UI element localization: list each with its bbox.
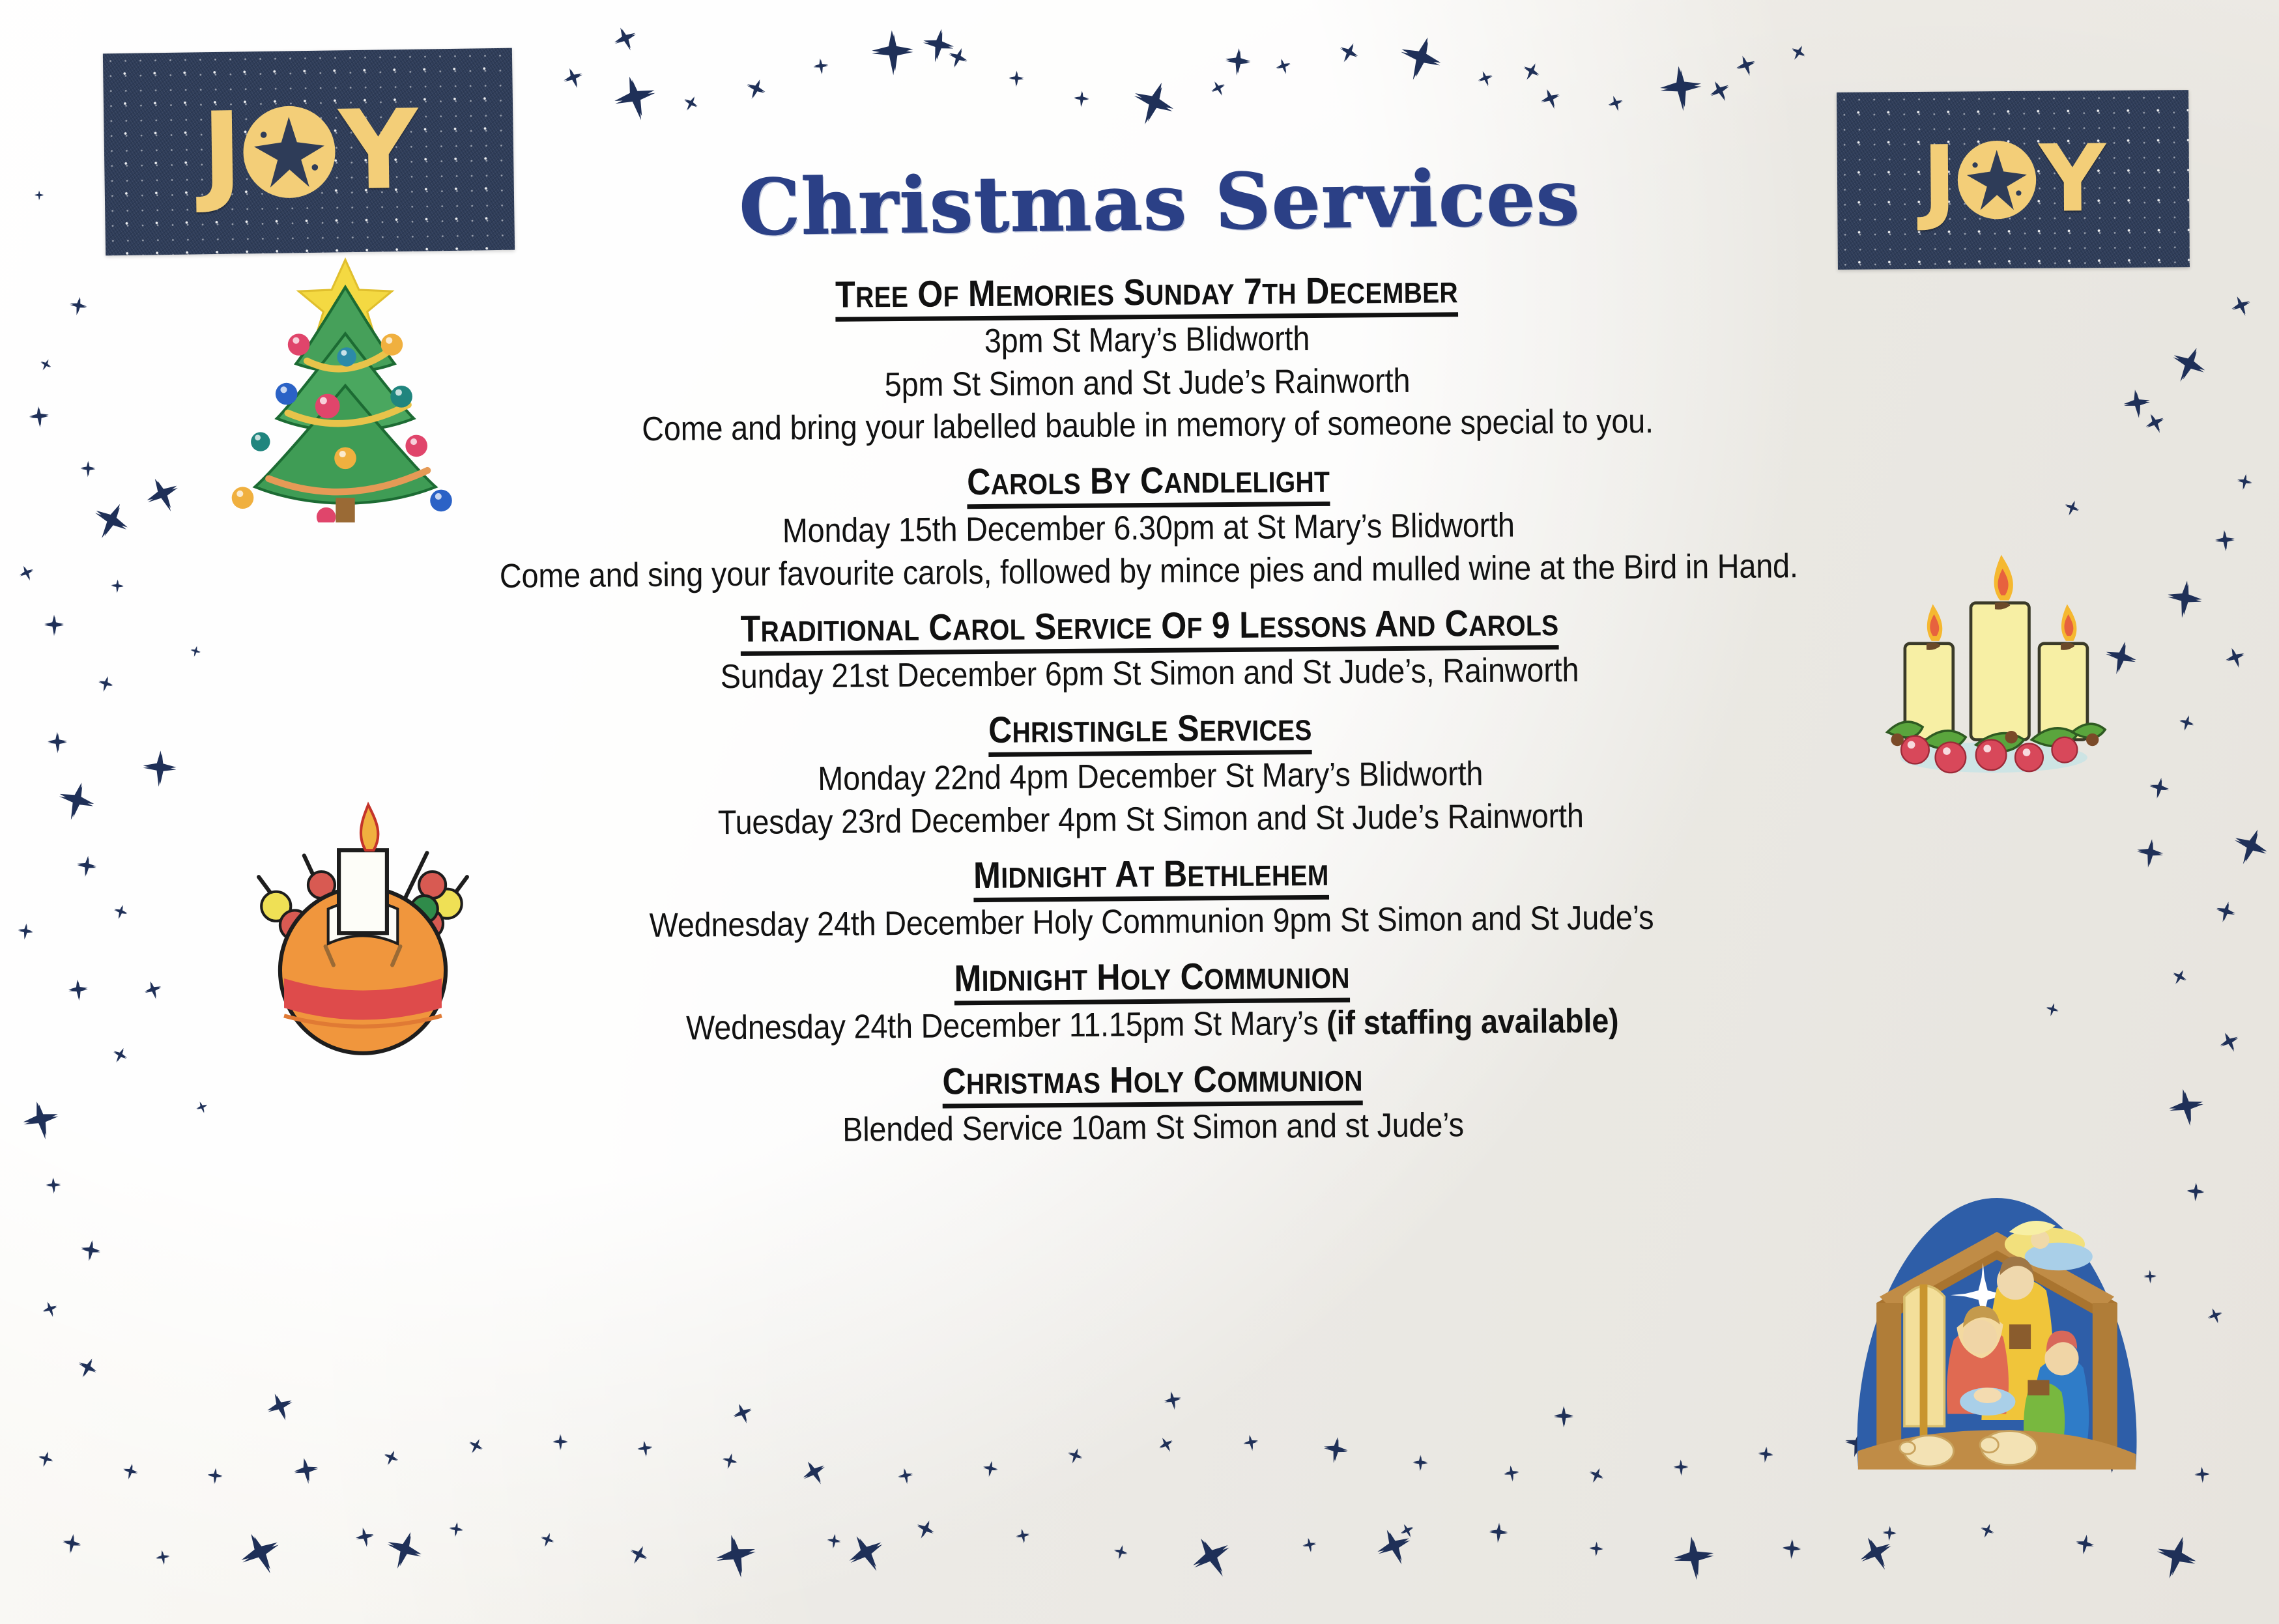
section-heading: CAROLS BY CANDLELIGHT xyxy=(967,461,1330,509)
decorative-star-icon xyxy=(1536,85,1565,113)
section-heading: TRADITIONAL CAROL SERVICE OF 9 LESSONS A… xyxy=(740,604,1558,656)
decorative-star-icon xyxy=(378,1524,429,1576)
page-title: Christmas Services xyxy=(736,159,1583,246)
decorative-star-icon xyxy=(1390,29,1450,89)
decorative-star-icon xyxy=(230,1523,291,1584)
decorative-star-icon xyxy=(1672,1459,1690,1476)
decorative-star-icon xyxy=(1655,63,1706,114)
section-tree-of-memories: TREE OF MEMORIES SUNDAY 7TH DECEMBER 3pm… xyxy=(212,266,2083,455)
decorative-star-icon xyxy=(607,70,664,127)
decorative-star-icon xyxy=(111,902,130,922)
section-heading: CHRISTINGLE SERVICES xyxy=(988,709,1312,757)
decorative-star-icon xyxy=(1123,73,1184,134)
decorative-star-icon xyxy=(1241,1432,1261,1452)
joy-letter-y: Y xyxy=(2039,141,2104,218)
decorative-star-icon xyxy=(35,1449,56,1470)
decorative-star-icon xyxy=(709,1529,764,1584)
decorative-star-icon xyxy=(1518,59,1545,85)
decorative-star-icon xyxy=(51,776,102,827)
decorative-star-icon xyxy=(1181,1526,1243,1589)
decorative-star-icon xyxy=(464,1435,487,1458)
decorative-star-icon xyxy=(795,1454,833,1491)
section-line-plain: Wednesday 24th December 11.15pm St Mary’… xyxy=(686,1004,1327,1047)
section-heading: MIDNIGHT AT BETHLEHEM xyxy=(973,854,1329,903)
decorative-star-icon xyxy=(1553,1406,1575,1428)
decorative-star-icon xyxy=(34,190,44,201)
decorative-star-icon xyxy=(1161,1389,1184,1412)
decorative-star-icon xyxy=(2204,1305,2226,1327)
decorative-star-icon xyxy=(838,1525,895,1582)
decorative-star-icon xyxy=(1605,93,1627,114)
decorative-star-icon xyxy=(108,1044,131,1067)
decorative-star-icon xyxy=(36,356,54,373)
decorative-star-icon xyxy=(43,614,65,636)
decorative-star-icon xyxy=(2162,339,2214,391)
nativity-scene-icon xyxy=(1841,1186,2153,1479)
decorative-star-icon xyxy=(1487,1522,1510,1544)
decorative-star-icon xyxy=(1502,1464,1521,1483)
section-heading: TREE OF MEMORIES SUNDAY 7TH DECEMBER xyxy=(835,271,1458,322)
decorative-star-icon xyxy=(679,92,702,115)
decorative-star-icon xyxy=(1222,46,1254,78)
decorative-star-icon xyxy=(1588,1541,1604,1557)
decorative-star-icon xyxy=(141,978,165,1003)
decorative-star-icon xyxy=(1781,1539,1803,1561)
decorative-star-icon xyxy=(2185,1182,2206,1203)
decorative-star-icon xyxy=(193,1099,210,1116)
decorative-star-icon xyxy=(2227,292,2256,321)
decorative-star-icon xyxy=(78,1238,104,1264)
decorative-star-icon xyxy=(67,295,90,318)
decorative-star-icon xyxy=(95,674,116,694)
decorative-star-icon xyxy=(1669,1533,1719,1584)
decorative-star-icon xyxy=(2072,1533,2097,1558)
decorative-star-icon xyxy=(917,25,958,66)
decorative-star-icon xyxy=(624,1541,652,1569)
decorative-star-icon xyxy=(1334,38,1364,68)
joy-letter-j: J xyxy=(1922,142,1955,218)
section-heading: CHRISTMAS HOLY COMMUNION xyxy=(943,1059,1364,1108)
decorative-star-icon xyxy=(16,562,38,584)
decorative-star-icon xyxy=(1207,78,1229,100)
decorative-star-icon xyxy=(79,461,96,477)
decorative-star-icon xyxy=(1732,51,1760,80)
decorative-star-icon xyxy=(1977,1520,1997,1541)
decorative-star-icon xyxy=(188,644,203,659)
decorative-star-icon xyxy=(1273,55,1295,77)
section-midnight-at-bethlehem: MIDNIGHT AT BETHLEHEM Wednesday 24th Dec… xyxy=(216,848,2087,951)
decorative-star-icon xyxy=(44,1176,62,1194)
decorative-star-icon xyxy=(74,854,99,879)
decorative-star-icon xyxy=(812,57,831,76)
decorative-star-icon xyxy=(537,1530,558,1550)
decorative-star-icon xyxy=(1320,1434,1351,1466)
decorative-star-icon xyxy=(552,1434,569,1451)
decorative-star-icon xyxy=(868,29,917,77)
decorative-star-icon xyxy=(1064,1446,1085,1467)
decorative-star-icon xyxy=(2234,472,2254,492)
decorative-star-icon xyxy=(1300,1536,1319,1554)
decorative-star-icon xyxy=(140,749,180,789)
decorative-star-icon xyxy=(59,1531,83,1556)
decorative-star-icon xyxy=(206,1467,224,1485)
joy-word-right: J Y xyxy=(1837,137,2190,223)
decorative-star-icon xyxy=(2213,529,2236,552)
decorative-star-icon xyxy=(728,1399,757,1428)
poster-title-wrap: Christmas Services xyxy=(736,159,1583,246)
joy-letter-o-star-icon xyxy=(240,102,339,201)
decorative-star-icon xyxy=(46,732,69,754)
decorative-star-icon xyxy=(1111,1543,1130,1561)
section-midnight-holy-communion: MIDNIGHT HOLY COMMUNION Wednesday 24th D… xyxy=(217,951,2087,1054)
joy-banner-right: J Y xyxy=(1837,90,2190,270)
decorative-star-icon xyxy=(635,1439,654,1458)
decorative-star-icon xyxy=(2215,1027,2244,1057)
joy-word-left: J Y xyxy=(104,100,514,204)
decorative-star-icon xyxy=(1474,68,1496,90)
decorative-star-icon xyxy=(2146,775,2172,801)
decorative-star-icon xyxy=(16,922,35,941)
decorative-star-icon xyxy=(1072,90,1091,108)
decorative-star-icon xyxy=(291,1455,322,1487)
poster-sheet: J Y J xyxy=(0,0,2279,1624)
joy-letter-y: Y xyxy=(338,106,416,196)
decorative-star-icon xyxy=(719,1451,740,1472)
section-traditional-carol-service: TRADITIONAL CAROL SERVICE OF 9 LESSONS A… xyxy=(214,600,2085,703)
section-line-bold: (if staffing available) xyxy=(1326,1003,1619,1043)
decorative-star-icon xyxy=(609,22,643,57)
decorative-star-icon xyxy=(2176,713,2197,734)
decorative-star-icon xyxy=(911,1516,939,1544)
decorative-star-icon xyxy=(741,75,771,104)
decorative-star-icon xyxy=(2168,965,2191,988)
decorative-star-icon xyxy=(83,494,138,548)
decorative-star-icon xyxy=(154,1548,171,1566)
joy-letter-j: J xyxy=(201,108,241,199)
decorative-star-icon xyxy=(1756,1445,1775,1464)
decorative-star-icon xyxy=(2221,644,2250,672)
decorative-star-icon xyxy=(2133,836,2167,870)
joy-letter-o-star-icon xyxy=(1955,138,2039,222)
decorative-star-icon xyxy=(2212,898,2239,926)
decorative-star-icon xyxy=(1786,41,1809,64)
decorative-star-icon xyxy=(2120,387,2154,421)
services-list: TREE OF MEMORIES SUNDAY 7TH DECEMBER 3pm… xyxy=(212,266,2089,1160)
decorative-star-icon xyxy=(380,1447,402,1469)
decorative-star-icon xyxy=(896,1466,915,1485)
decorative-star-icon xyxy=(27,405,51,429)
decorative-star-icon xyxy=(66,978,90,1003)
decorative-star-icon xyxy=(120,1461,141,1482)
decorative-star-icon xyxy=(39,1298,61,1320)
decorative-star-icon xyxy=(2224,821,2276,873)
section-christingle-services: CHRISTINGLE SERVICES Monday 22nd 4pm Dec… xyxy=(215,703,2085,849)
decorative-star-icon xyxy=(137,470,188,520)
decorative-star-icon xyxy=(109,578,124,593)
decorative-star-icon xyxy=(1014,1527,1032,1545)
decorative-star-icon xyxy=(1704,76,1736,107)
decorative-star-icon xyxy=(2147,1529,2205,1586)
decorative-star-icon xyxy=(2193,1466,2211,1484)
decorative-star-icon xyxy=(17,1096,65,1145)
decorative-star-icon xyxy=(261,1388,300,1427)
decorative-star-icon xyxy=(2164,1085,2209,1130)
section-line: Blended Service 10am St Simon and st Jud… xyxy=(311,1100,1994,1156)
decorative-star-icon xyxy=(1585,1464,1608,1487)
decorative-star-icon xyxy=(1412,1455,1429,1472)
decorative-star-icon xyxy=(981,1459,1000,1479)
section-heading: MIDNIGHT HOLY COMMUNION xyxy=(954,957,1350,1006)
decorative-star-icon xyxy=(1008,70,1025,87)
decorative-star-icon xyxy=(1154,1434,1177,1457)
decorative-star-icon xyxy=(72,1353,102,1383)
decorative-star-icon xyxy=(447,1521,465,1539)
joy-banner-left: J Y xyxy=(103,48,515,256)
decorative-star-icon xyxy=(559,64,588,93)
decorative-star-icon xyxy=(352,1525,377,1550)
decorative-star-icon xyxy=(2162,577,2207,621)
section-christmas-holy-communion: CHRISTMAS HOLY COMMUNION Blended Service… xyxy=(218,1053,2088,1156)
section-carols-by-candlelight: CAROLS BY CANDLELIGHT Monday 15th Decemb… xyxy=(213,455,2084,601)
